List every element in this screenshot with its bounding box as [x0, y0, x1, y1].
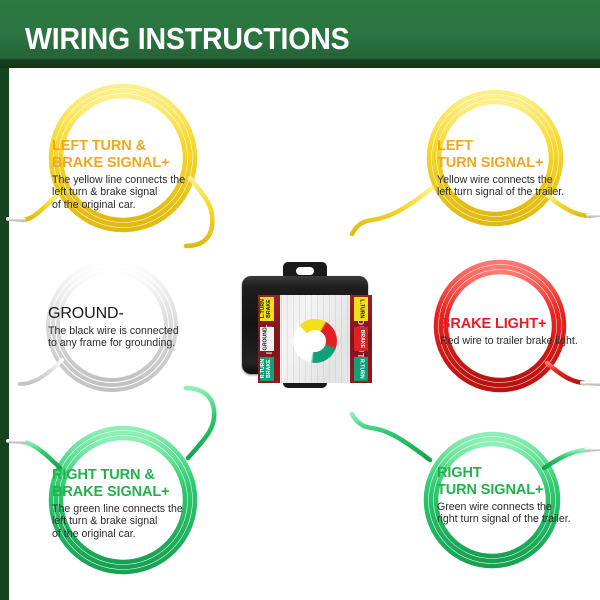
callout-left-turn-signal: LEFT TURN SIGNAL+ Yellow wire connects t… — [437, 138, 597, 199]
callout-title: GROUND- — [48, 305, 213, 322]
indicator-center — [304, 330, 326, 352]
callout-title: BRAKE LIGHT+ — [440, 316, 600, 333]
callout-body: The yellow line connects the left turn &… — [52, 174, 212, 211]
page-header: WIRING INSTRUCTIONS — [0, 0, 600, 68]
callout-body: Yellow wire connects the left turn signa… — [437, 174, 597, 199]
callout-body: Green wire connects the right turn signa… — [437, 501, 599, 526]
output-port-right-turn: R.TURN — [354, 357, 368, 381]
page-title: WIRING INSTRUCTIONS — [25, 22, 349, 56]
callout-brake-light: BRAKE LIGHT+ Red wire to trailer brake l… — [440, 316, 600, 347]
callout-body: The black wire is connected to any frame… — [48, 325, 213, 350]
callout-title: LEFT TURN & BRAKE SIGNAL+ — [52, 138, 212, 172]
output-port-left-turn: L.TURN — [354, 297, 368, 321]
callout-body: The green line connects the left turn & … — [52, 503, 214, 540]
callout-body: Red wire to trailer brake light. — [440, 335, 600, 347]
input-port-left-turn-brake: L.TURN BRAKE — [260, 297, 274, 321]
status-indicator-ring — [293, 319, 337, 363]
module-housing: INPUT L.TURN BRAKE GROUND R.TURN BRAKE O… — [242, 276, 368, 374]
callout-right-turn-signal: RIGHT TURN SIGNAL+ Green wire connects t… — [437, 465, 599, 526]
input-port-right-turn-brake: R.TURN BRAKE — [260, 357, 274, 381]
callout-ground: GROUND- The black wire is connected to a… — [48, 305, 213, 350]
output-port-brake: BRAKE — [354, 327, 368, 351]
converter-module: INPUT L.TURN BRAKE GROUND R.TURN BRAKE O… — [232, 262, 378, 388]
callout-right-turn-brake-signal: RIGHT TURN & BRAKE SIGNAL+ The green lin… — [52, 467, 214, 540]
callout-title: RIGHT TURN & BRAKE SIGNAL+ — [52, 467, 214, 501]
callout-title: LEFT TURN SIGNAL+ — [437, 138, 597, 172]
callout-title: RIGHT TURN SIGNAL+ — [437, 465, 599, 499]
wiring-instructions-page: WIRING INSTRUCTIONS — [0, 0, 600, 600]
input-port-ground: GROUND — [260, 327, 274, 351]
callout-left-turn-brake-signal: LEFT TURN & BRAKE SIGNAL+ The yellow lin… — [52, 138, 212, 211]
